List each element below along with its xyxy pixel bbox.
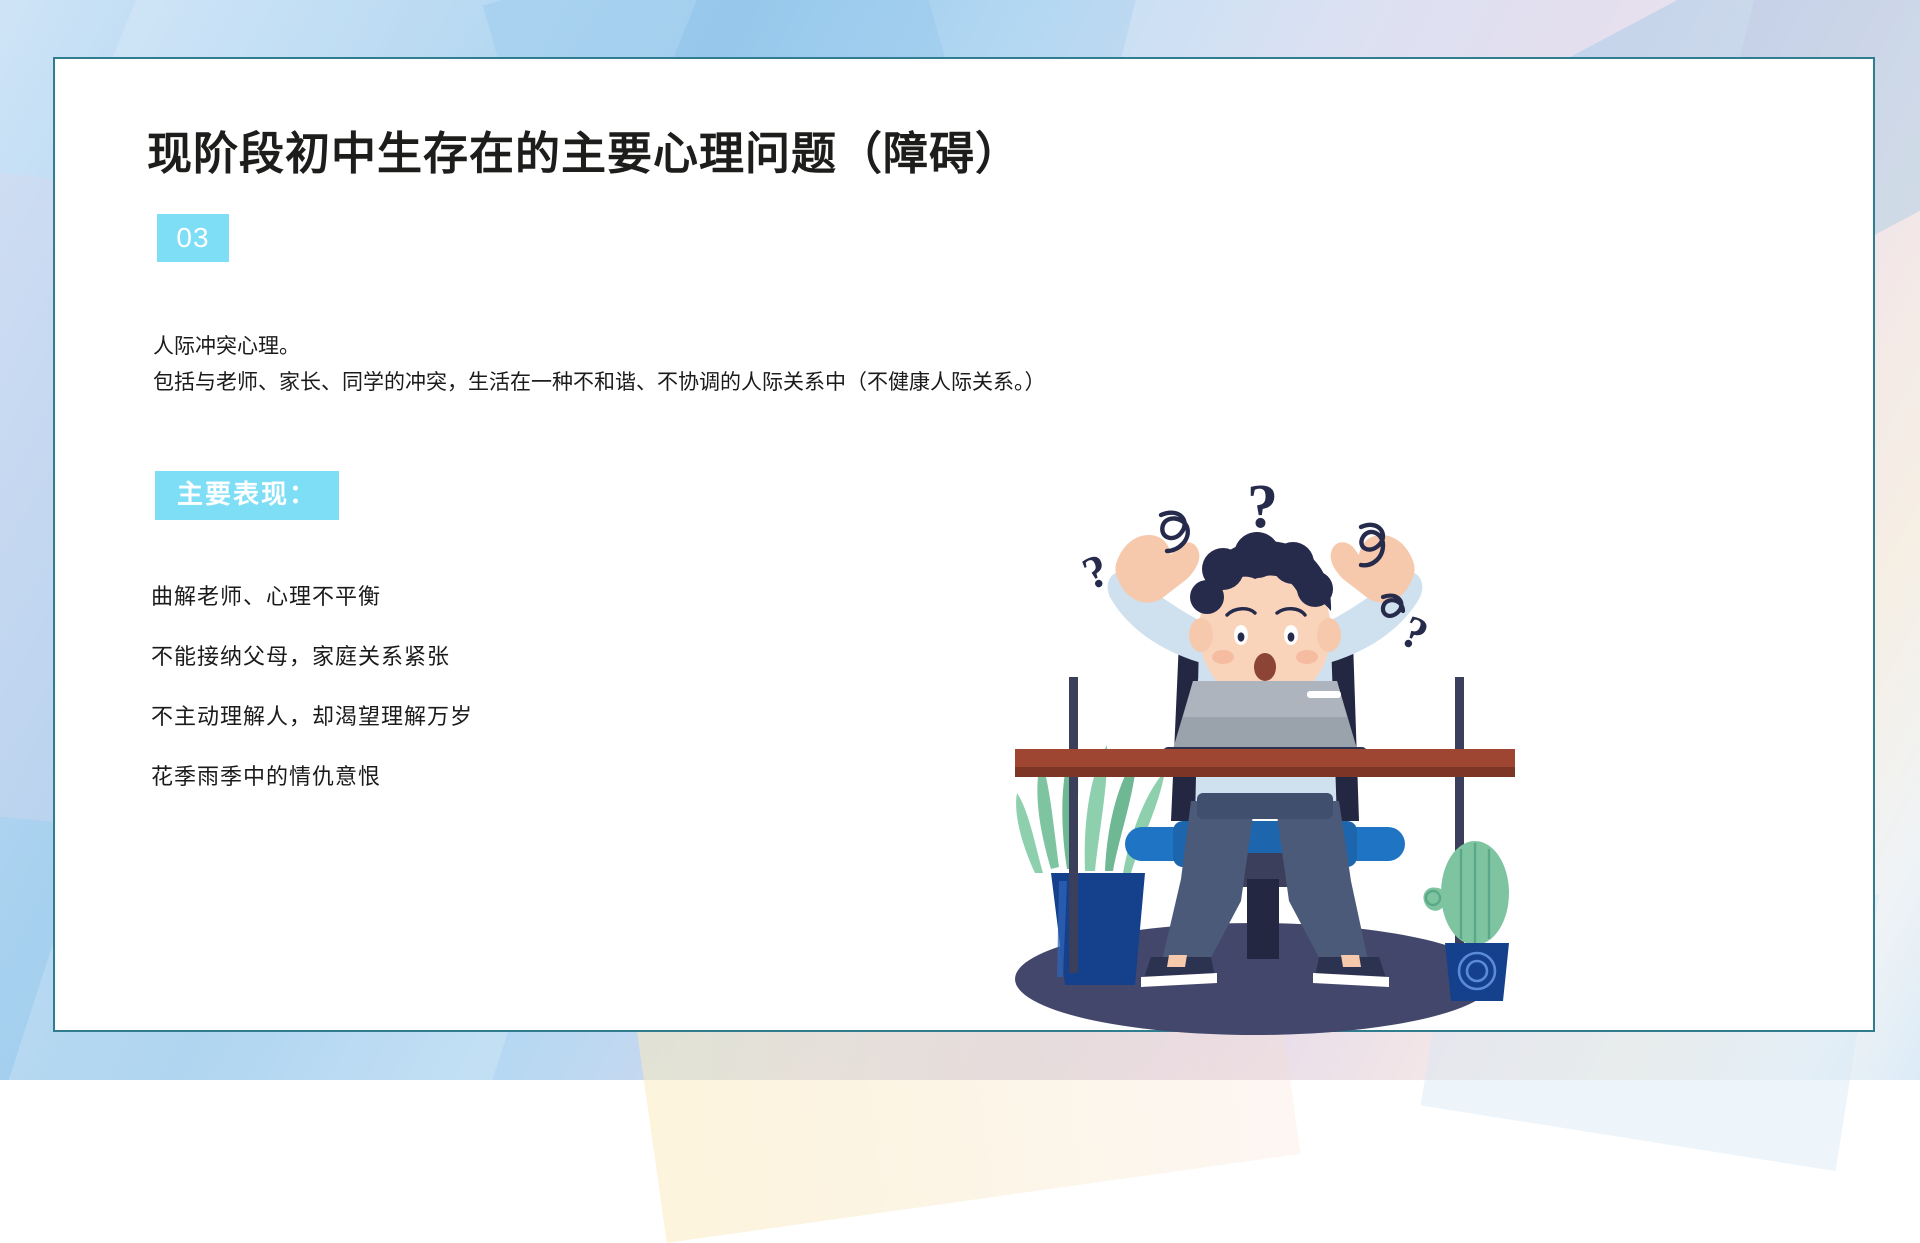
laptop-shape: [1163, 681, 1367, 759]
intro-paragraph: 人际冲突心理。 包括与老师、家长、同学的冲突，生活在一种不和谐、不协调的人际关系…: [153, 329, 1313, 401]
performance-heading-badge: 主要表现：: [155, 471, 339, 520]
desk-shape: [1015, 749, 1515, 777]
list-item: 曲解老师、心理不平衡: [151, 579, 473, 611]
question-mark-left: ?: [1075, 543, 1115, 599]
list-item: 不主动理解人，却渴望理解万岁: [151, 699, 473, 731]
performance-list: 曲解老师、心理不平衡 不能接纳父母，家庭关系紧张 不主动理解人，却渴望理解万岁 …: [151, 579, 473, 819]
list-item: 花季雨季中的情仇意恨: [151, 759, 473, 791]
intro-line-2: 包括与老师、家长、同学的冲突，生活在一种不和谐、不协调的人际关系中（不健康人际关…: [153, 365, 1313, 401]
page-title: 现阶段初中生存在的主要心理问题（障碍）: [147, 117, 1021, 182]
slide-content-card: 现阶段初中生存在的主要心理问题（障碍） 03 人际冲突心理。 包括与老师、家长、…: [53, 57, 1875, 1032]
stressed-student-illustration: ? ? ?: [955, 449, 1575, 1069]
svg-text:?: ?: [1247, 473, 1278, 541]
svg-text:?: ?: [1075, 543, 1115, 599]
desk-leg-left: [1069, 677, 1078, 973]
list-item: 不能接纳父母，家庭关系紧张: [151, 639, 473, 671]
section-number-badge: 03: [157, 214, 229, 262]
intro-line-1: 人际冲突心理。: [153, 329, 1313, 365]
question-mark-large: ?: [1247, 473, 1278, 541]
